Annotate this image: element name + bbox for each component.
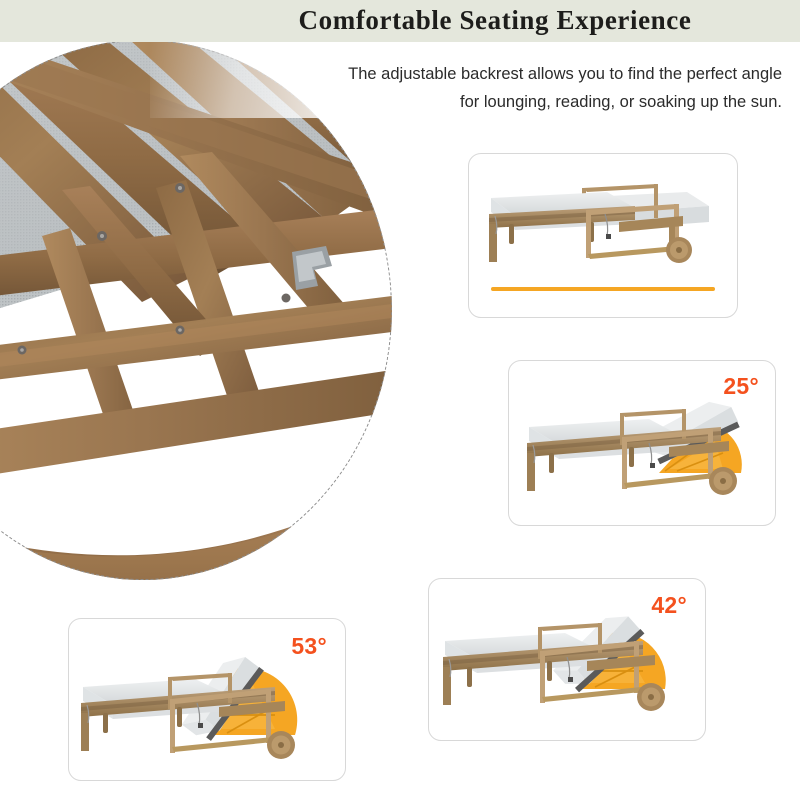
chaise-illustration-flat: [469, 154, 737, 317]
position-card-53[interactable]: 53°: [68, 618, 346, 781]
hero-photo-circle: [0, 40, 392, 580]
flat-position-rule: [491, 287, 715, 291]
angle-badge-25: 25°: [723, 373, 759, 400]
hero-photo-clip: [0, 40, 392, 580]
page-title: Comfortable Seating Experience: [0, 0, 800, 42]
position-card-25[interactable]: 25°: [508, 360, 776, 526]
position-card-42[interactable]: 42°: [428, 578, 706, 741]
angle-badge-42: 42°: [651, 592, 687, 619]
position-card-flat[interactable]: [468, 153, 738, 318]
subtitle-line-1: The adjustable backrest allows you to fi…: [162, 60, 782, 88]
subtitle-line-2: for lounging, reading, or soaking up the…: [162, 88, 782, 116]
angle-badge-53: 53°: [291, 633, 327, 660]
chaise-frame-closeup-photo: [0, 40, 392, 580]
subtitle-text: The adjustable backrest allows you to fi…: [162, 60, 782, 116]
